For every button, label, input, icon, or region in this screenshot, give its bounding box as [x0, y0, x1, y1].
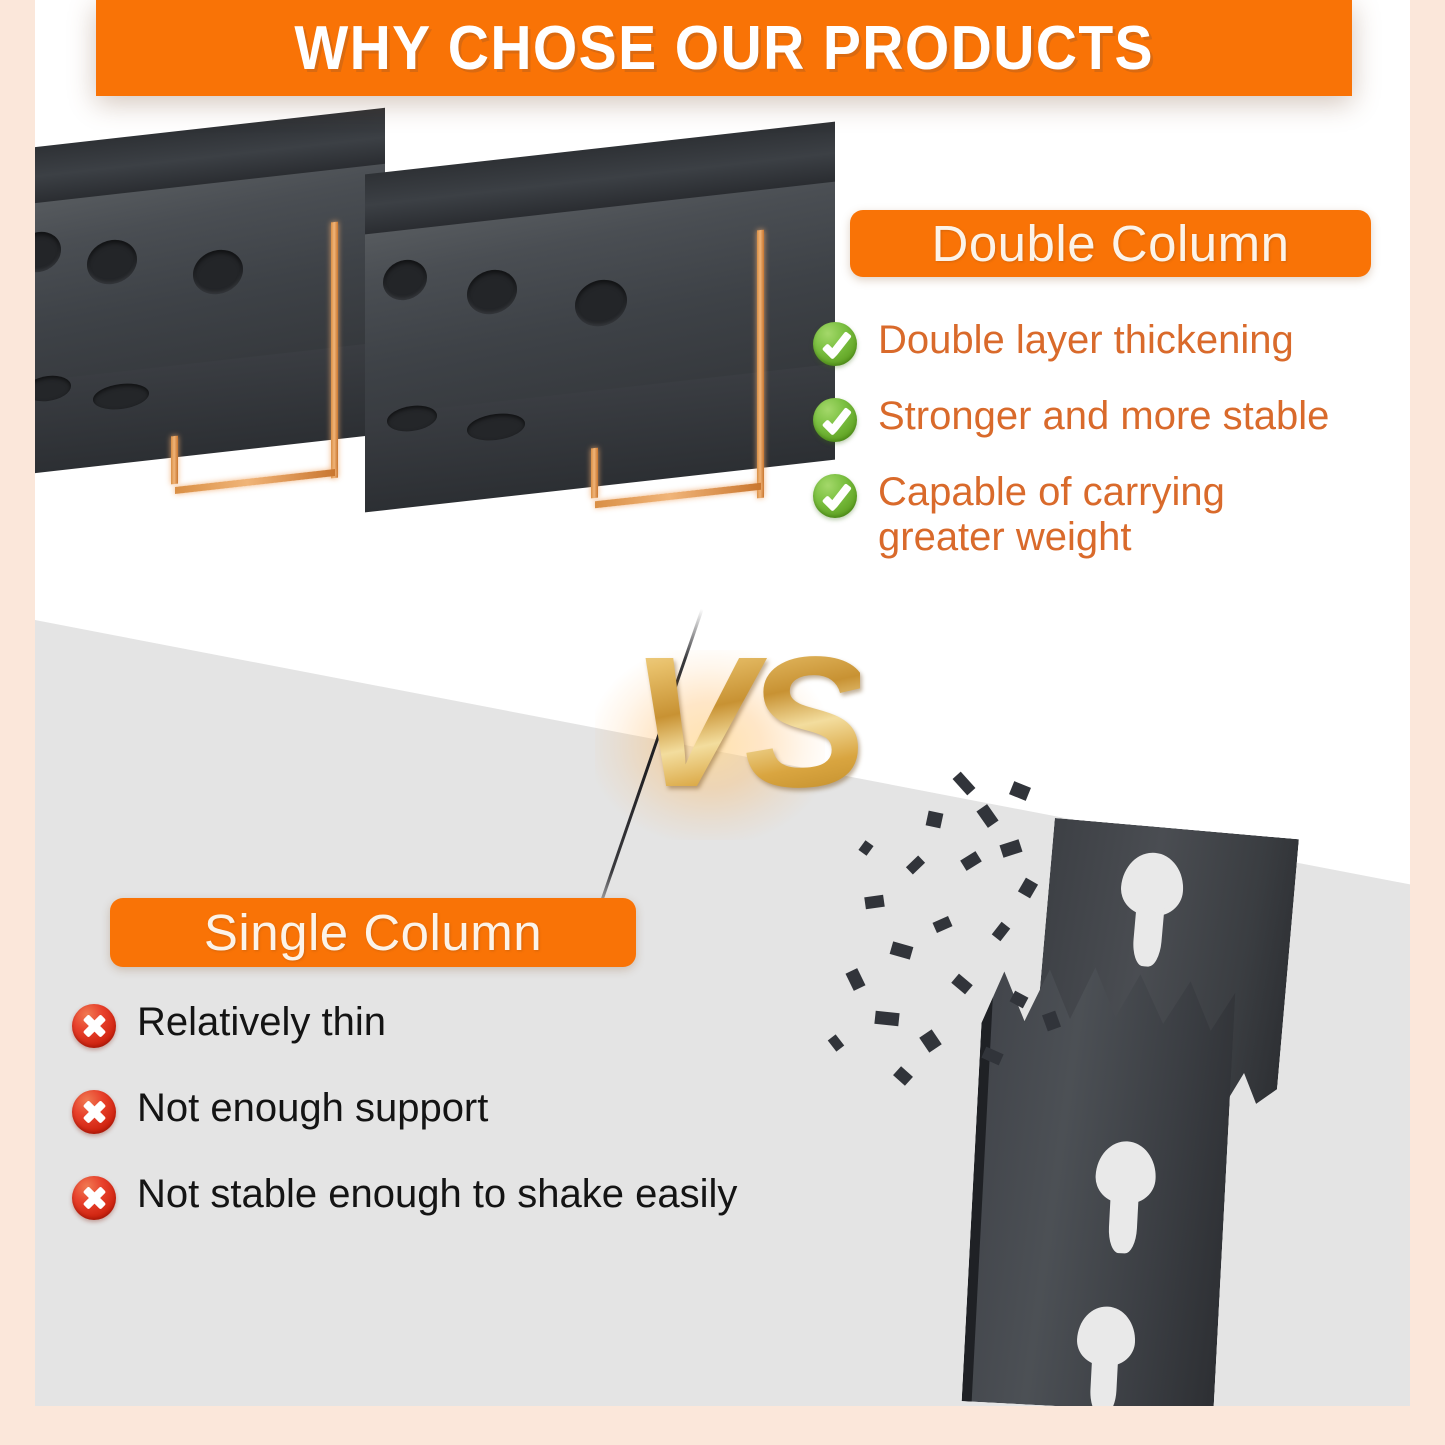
badge-double-column-label: Double Column — [931, 214, 1289, 273]
badge-single-column-label: Single Column — [204, 903, 542, 962]
cross-circle-icon — [72, 1004, 116, 1048]
list-item: Not enough support — [72, 1086, 862, 1134]
cons-item-label: Relatively thin — [137, 1000, 386, 1045]
check-circle-icon — [813, 322, 857, 366]
header-bar: WHY CHOSE OUR PRODUCTS — [96, 0, 1352, 96]
versus-label: VS — [630, 630, 860, 816]
list-item: Capable of carrying greater weight — [813, 470, 1403, 560]
product-comparison-infographic: VS Double Column Double layer thickening… — [0, 0, 1445, 1445]
page-title: WHY CHOSE OUR PRODUCTS — [294, 13, 1154, 84]
cross-circle-icon — [72, 1176, 116, 1220]
cross-circle-icon — [72, 1090, 116, 1134]
badge-double-column: Double Column — [850, 210, 1371, 277]
broken-post-photo — [805, 720, 1410, 1406]
cons-list: Relatively thin Not enough support Not s… — [72, 1000, 862, 1258]
content-panel: VS Double Column Double layer thickening… — [35, 0, 1410, 1406]
check-circle-icon — [813, 474, 857, 518]
cons-item-label: Not enough support — [137, 1086, 488, 1131]
pros-item-label: Stronger and more stable — [878, 394, 1329, 439]
cons-item-label: Not stable enough to shake easily — [137, 1172, 737, 1217]
list-item: Double layer thickening — [813, 318, 1403, 366]
double-column-rail-photo — [35, 110, 825, 610]
pros-item-label: Capable of carrying greater weight — [878, 470, 1318, 560]
pros-item-label: Double layer thickening — [878, 318, 1294, 363]
list-item: Stronger and more stable — [813, 394, 1403, 442]
post-lower-fragment — [962, 962, 1237, 1406]
versus-emblem: VS — [630, 630, 860, 860]
list-item: Not stable enough to shake easily — [72, 1172, 862, 1220]
list-item: Relatively thin — [72, 1000, 862, 1048]
badge-single-column: Single Column — [110, 898, 636, 967]
check-circle-icon — [813, 398, 857, 442]
pros-list: Double layer thickening Stronger and mor… — [813, 318, 1403, 588]
